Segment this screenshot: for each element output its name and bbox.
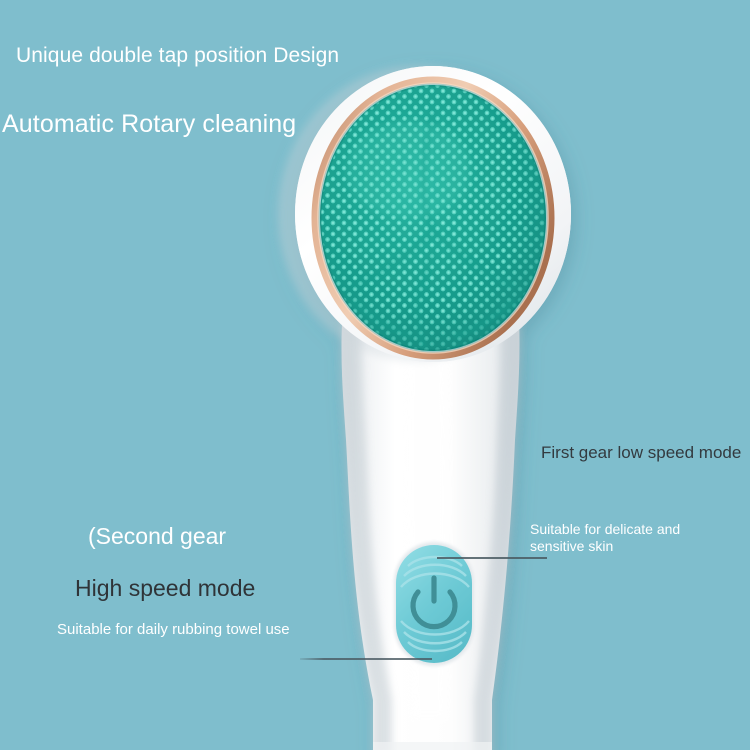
handle-bottom <box>373 742 492 750</box>
first-gear-title: First gear low speed mode <box>541 443 741 463</box>
device-body <box>278 66 571 750</box>
product-image-canvas: Unique double tap position Design Automa… <box>0 0 750 750</box>
second-gear-title: (Second gear <box>88 523 226 550</box>
second-gear-subtitle: High speed mode <box>75 575 255 602</box>
power-button-cap <box>396 545 472 663</box>
power-button[interactable] <box>394 542 474 666</box>
first-gear-caption: Suitable for delicate and sensitive skin <box>530 521 680 555</box>
headline-secondary: Automatic Rotary cleaning <box>2 110 296 140</box>
brush-face-sheen <box>346 122 470 218</box>
second-gear-caption: Suitable for daily rubbing towel use <box>57 621 290 639</box>
leader-line-first-gear <box>437 557 547 559</box>
headline-primary: Unique double tap position Design <box>16 44 339 69</box>
leader-line-second-gear <box>300 658 432 660</box>
